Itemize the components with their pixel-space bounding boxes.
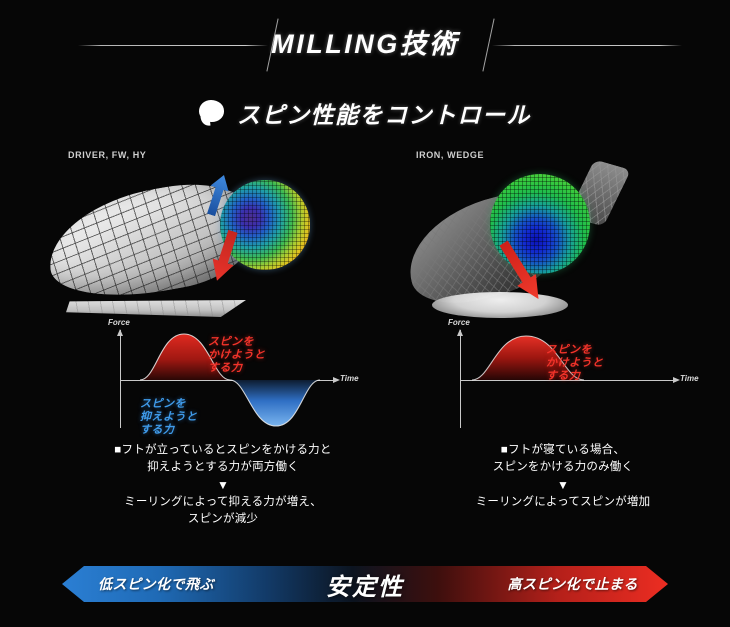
page-title: MILLING技術	[0, 22, 730, 61]
graph-note-red-iron: スピンをかけようとする力	[546, 344, 604, 383]
header: MILLING技術	[0, 0, 730, 80]
speech-bubble-icon	[199, 100, 225, 126]
caption-line-2: 抑えようとする力が両方働く	[58, 459, 388, 476]
scale-right-label: 高スピン化で止まる	[508, 574, 639, 594]
caption-line-1: ■フトが寝ている場合、	[398, 442, 728, 459]
caption-iron: ■フトが寝ている場合、 スピンをかける力のみ働く ▼ ミーリングによってスピンが…	[398, 442, 728, 511]
graph-driver: Force Time	[78, 322, 378, 432]
scene-iron	[398, 168, 728, 318]
milling-technology-infographic: MILLING技術 スピン性能をコントロール DRIVER, FW, HY Fo…	[0, 0, 730, 627]
subtitle-text: スピン性能をコントロール	[237, 96, 531, 130]
graph-note-red-driver: スピンをかけようとする力	[208, 336, 266, 375]
caption-line-3: ミーリングによって抑える力が増え、	[58, 494, 388, 511]
ball-green-heatmap	[490, 174, 590, 274]
caption-down-arrow-icon: ▼	[398, 476, 728, 494]
graph-note-blue-driver: スピンを抑えようとする力	[140, 398, 198, 437]
ball-rainbow-heatmap	[220, 180, 310, 270]
spin-stability-scale-bar: 低スピン化で飛ぶ 安定性 高スピン化で止まる	[62, 566, 668, 602]
caption-line-1: ■フトが立っているとスピンをかける力と	[58, 442, 388, 459]
scene-driver	[58, 168, 388, 318]
subtitle-row: スピン性能をコントロール	[0, 96, 730, 130]
caption-down-arrow-icon: ▼	[58, 476, 388, 494]
graph-iron: Force Time スピンをかけようとする力	[418, 322, 718, 432]
iron-sole-plate	[432, 292, 568, 318]
caption-line-3: ミーリングによってスピンが増加	[398, 494, 728, 511]
header-rule-right	[492, 45, 682, 46]
panel-label-iron: IRON, WEDGE	[416, 150, 484, 160]
caption-line-2: スピンをかける力のみ働く	[398, 459, 728, 476]
caption-driver: ■フトが立っているとスピンをかける力と 抑えようとする力が両方働く ▼ ミーリン…	[58, 442, 388, 528]
driver-sole-plate	[66, 300, 246, 317]
panel-label-driver: DRIVER, FW, HY	[68, 150, 146, 160]
panel-iron: IRON, WEDGE Force Time	[398, 150, 728, 550]
caption-line-4: スピンが減少	[58, 511, 388, 528]
panel-driver: DRIVER, FW, HY Force Time	[58, 150, 388, 550]
